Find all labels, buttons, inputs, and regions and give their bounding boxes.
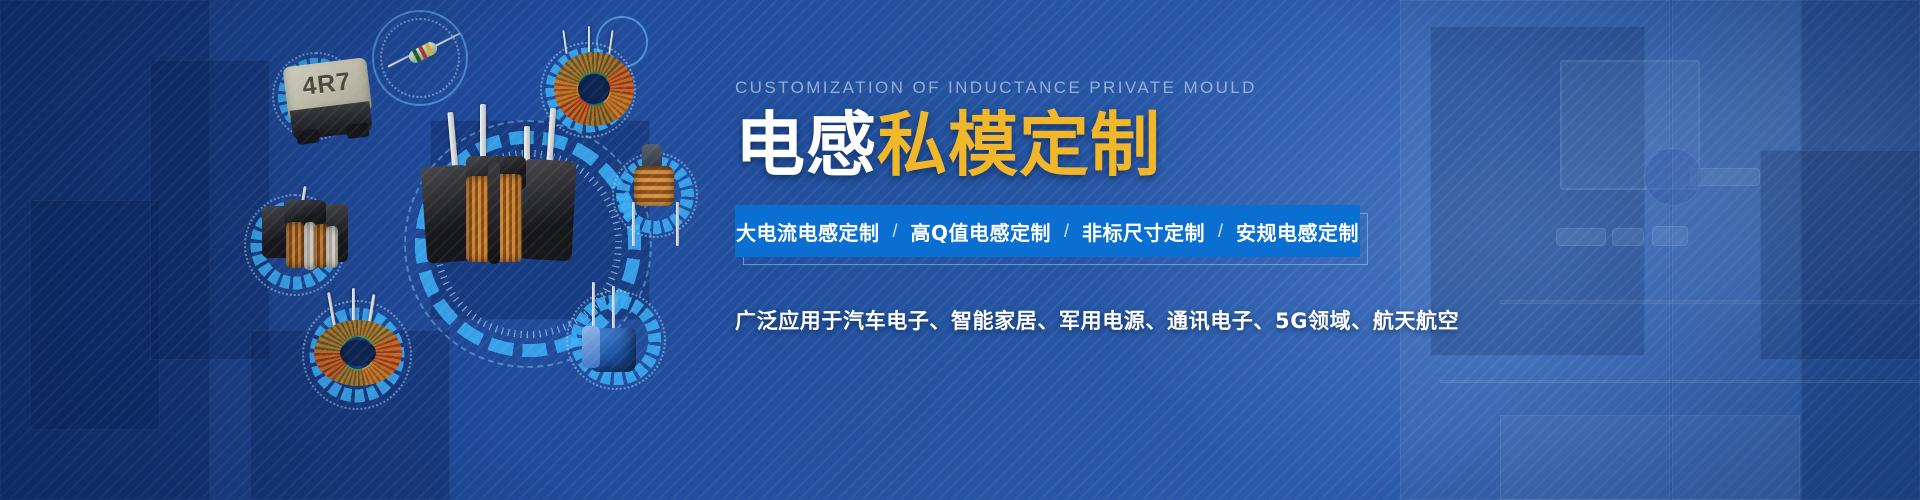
component-dual-bobbin-choke-main: [414, 112, 580, 282]
feature-separator: /: [1205, 221, 1236, 242]
headline-white-part: 电感: [735, 104, 877, 186]
feature-bar: 大电流电感定制 / 高Q值电感定制 / 非标尺寸定制 / 安规电感定制: [735, 205, 1360, 257]
feature-item-2: 高Q值电感定制: [910, 217, 1051, 246]
component-blue-radial-inductor: [578, 282, 654, 386]
feature-item-1: 大电流电感定制: [736, 217, 880, 246]
component-flat-wire-choke: [258, 196, 354, 286]
headline-gold-part: 私模定制: [877, 104, 1161, 186]
promotional-banner: 4R7: [0, 0, 1920, 500]
feature-item-4: 安规电感定制: [1236, 217, 1359, 246]
component-smd-power-inductor: 4R7: [278, 57, 379, 148]
banner-text-block: CUSTOMIZATION OF INDUCTANCE PRIVATE MOUL…: [735, 78, 1685, 335]
component-axial-inductor: [386, 32, 460, 72]
component-toroidal-choke-bottom: [308, 292, 408, 388]
feature-separator: /: [879, 221, 910, 242]
component-rod-core-inductor: [620, 150, 694, 246]
english-subtitle: CUSTOMIZATION OF INDUCTANCE PRIVATE MOUL…: [735, 78, 1685, 98]
feature-item-3: 非标尺寸定制: [1082, 217, 1205, 246]
feature-separator: /: [1051, 221, 1082, 242]
page-title: 电感私模定制: [735, 110, 1685, 181]
application-tagline: 广泛应用于汽车电子、智能家居、军用电源、通讯电子、5G领域、航天航空: [735, 305, 1685, 335]
